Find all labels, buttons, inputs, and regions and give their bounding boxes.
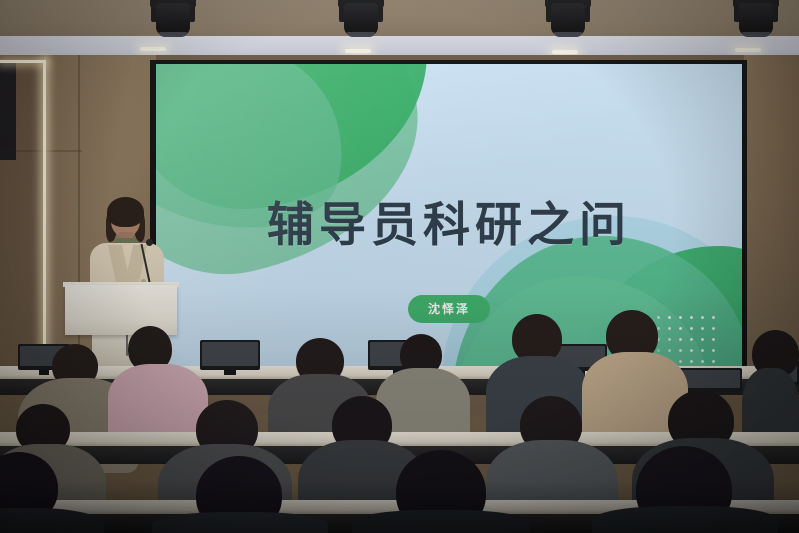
foreground-shadow xyxy=(0,480,799,533)
downlight-2 xyxy=(345,49,371,53)
podium xyxy=(65,285,177,335)
presenter-badge-container: 沈怿泽 xyxy=(156,295,742,323)
stage-light-3 xyxy=(545,0,591,38)
speaker-hair xyxy=(107,197,144,227)
downlight-1 xyxy=(140,47,166,51)
presenter-name-badge: 沈怿泽 xyxy=(408,295,490,323)
slide-title: 辅导员科研之问 xyxy=(156,186,742,255)
downlight-4 xyxy=(735,48,761,52)
stage-light-1 xyxy=(150,0,196,38)
monitor-2 xyxy=(200,340,260,370)
microphone-icon xyxy=(146,239,153,246)
left-wall-dark-panel xyxy=(0,60,16,160)
led-light-strip-horizontal xyxy=(0,60,46,63)
lecture-hall-photo: 辅导员科研之问 沈怿泽 xyxy=(0,0,799,533)
stage-light-4 xyxy=(733,0,779,38)
left-wall-seam-horizontal xyxy=(0,150,82,152)
ceiling-beam xyxy=(0,0,799,40)
stage-light-2 xyxy=(338,0,384,38)
downlight-3 xyxy=(552,50,578,54)
